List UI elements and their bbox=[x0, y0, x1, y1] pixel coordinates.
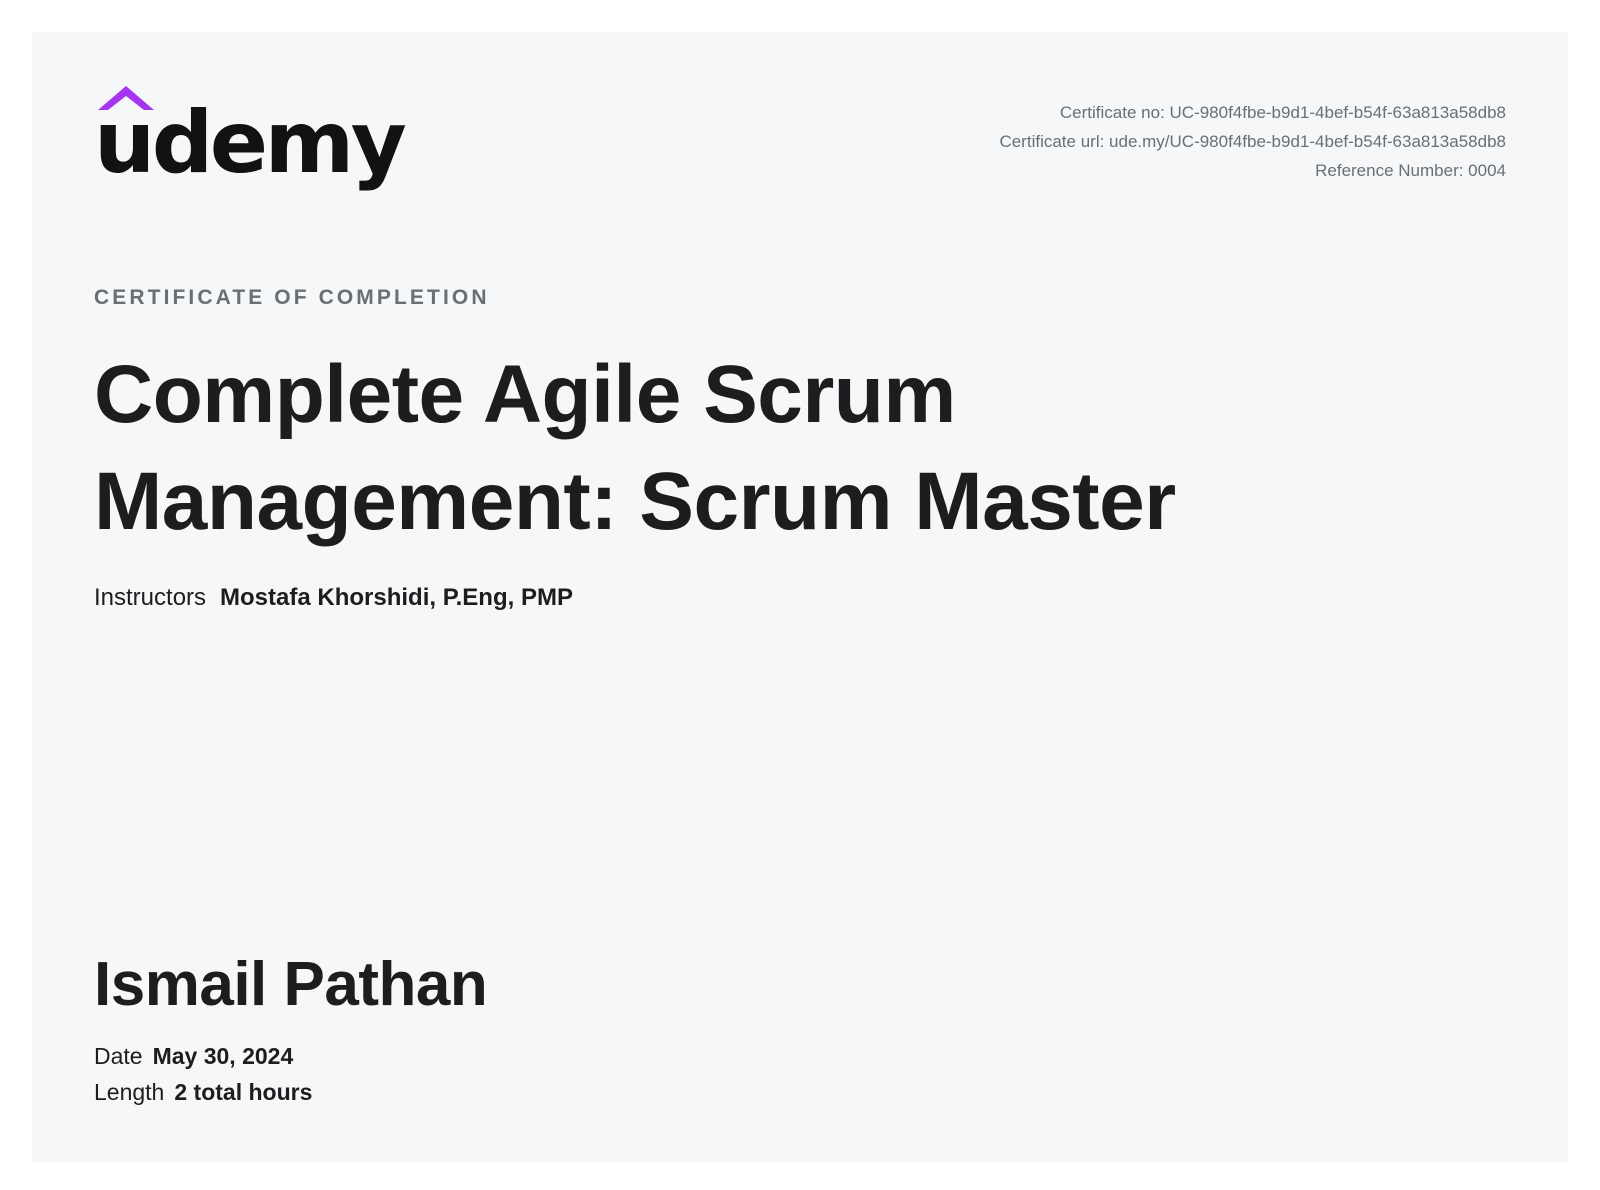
reference-number: Reference Number: 0004 bbox=[999, 156, 1506, 185]
instructors-label: Instructors bbox=[94, 584, 206, 611]
certificate-page: udemy Certificate no: UC-980f4fbe-b9d1-4… bbox=[0, 0, 1600, 1190]
certificate-url[interactable]: Certificate url: ude.my/UC-980f4fbe-b9d1… bbox=[999, 127, 1506, 156]
udemy-logo: udemy bbox=[94, 84, 354, 194]
certificate-body: CERTIFICATE OF COMPLETION Complete Agile… bbox=[94, 287, 1506, 615]
course-title: Complete Agile Scrum Management: Scrum M… bbox=[94, 342, 1494, 555]
certificate-header: udemy Certificate no: UC-980f4fbe-b9d1-4… bbox=[32, 32, 1568, 192]
date-value: May 30, 2024 bbox=[153, 1043, 294, 1069]
length-value: 2 total hours bbox=[174, 1079, 312, 1105]
instructors-row: InstructorsMostafa Khorshidi, P.Eng, PMP bbox=[94, 581, 1506, 615]
certificate-eyebrow-heading: CERTIFICATE OF COMPLETION bbox=[94, 287, 1506, 308]
length-label: Length bbox=[94, 1079, 164, 1105]
udemy-wordmark: udemy bbox=[94, 100, 403, 186]
date-label: Date bbox=[94, 1043, 143, 1069]
length-row: Length2 total hours bbox=[94, 1074, 487, 1110]
certificate-number: Certificate no: UC-980f4fbe-b9d1-4bef-b5… bbox=[999, 98, 1506, 127]
certificate-footer: Ismail Pathan DateMay 30, 2024 Length2 t… bbox=[94, 949, 487, 1110]
recipient-name: Ismail Pathan bbox=[94, 949, 487, 1020]
certificate-meta: Certificate no: UC-980f4fbe-b9d1-4bef-b5… bbox=[999, 98, 1506, 185]
instructors-value: Mostafa Khorshidi, P.Eng, PMP bbox=[220, 584, 573, 611]
certificate-card: udemy Certificate no: UC-980f4fbe-b9d1-4… bbox=[32, 32, 1568, 1162]
date-row: DateMay 30, 2024 bbox=[94, 1038, 487, 1074]
